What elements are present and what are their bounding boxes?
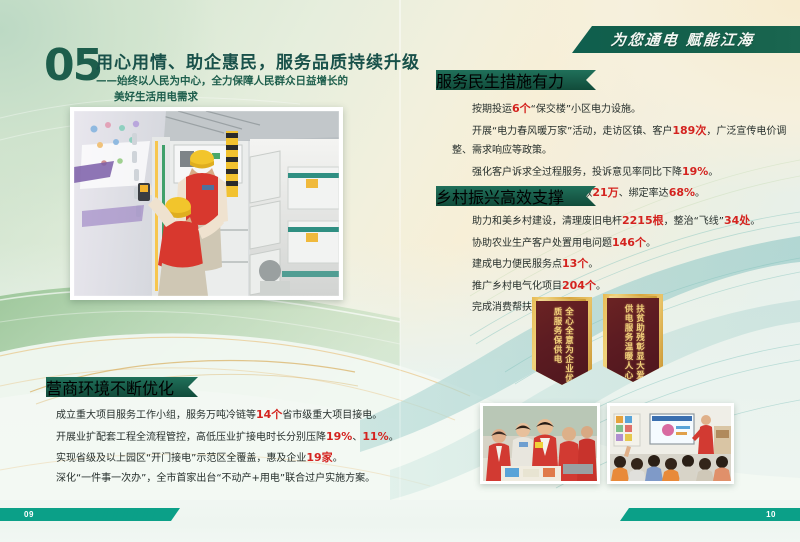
small-photo-right [610, 406, 731, 481]
main-photo [74, 111, 339, 296]
small-photo-left [483, 406, 597, 481]
text-run: 完成消费帮扶 [472, 302, 532, 313]
paragraph: 开展业扩配套工程全流程管控，高低压业扩接电时长分别压降19%、11%。 [56, 426, 406, 448]
section-header-xiangcun-label: 乡村振兴高效支撑 [436, 184, 564, 208]
highlight-value: 13个 [562, 257, 588, 270]
text-run: 助力和美乡村建设，清理废旧电杆 [472, 216, 622, 227]
text-run: 强化客户诉求全过程服务，投诉意见率同比下降 [472, 167, 682, 178]
small-photo-frame-right [607, 403, 734, 484]
highlight-value: 2215根 [622, 214, 664, 227]
header-banner: 为您通电 赋能江海 [572, 26, 800, 53]
page-footer: 09 10 [0, 500, 800, 542]
paragraph: 按期投运6个“保交楼”小区电力设施。 [452, 98, 792, 120]
text-run: 。 [695, 188, 705, 199]
text-run: 。 [333, 453, 343, 464]
header-banner-text: 为您通电 赋能江海 [610, 29, 761, 50]
highlight-value: 21万 [592, 186, 618, 199]
text-run: 协助农业生产客户处置用电问题 [472, 238, 612, 249]
paragraph: 协助农业生产客户处置用电问题146个。 [452, 232, 792, 254]
highlight-value: 6个 [512, 102, 531, 115]
page-subtitle-line1: ——始终以人民为中心，全力保障人民群众日益增长的 [96, 75, 348, 87]
text-run: 。 [389, 432, 399, 443]
highlight-value: 14个 [256, 408, 282, 421]
text-run: 。 [750, 216, 760, 227]
section-header-xiangcun: 乡村振兴高效支撑 [436, 186, 596, 211]
text-run: 建成电力便民服务点 [472, 259, 562, 270]
pennant-face-2: 扶贫助残彰显大爱供电服务温暖人心 [607, 298, 659, 382]
page-number-right: 10 [766, 510, 776, 519]
text-run: 按期投运 [472, 104, 512, 115]
section-header-minsheng: 服务民生措施有力 [436, 70, 596, 95]
text-run: 。 [588, 259, 598, 270]
small-photo-left-illustration [483, 406, 597, 481]
paragraph: 推广乡村电气化项目204个。 [452, 275, 792, 297]
section-header-yingshang: 营商环境不断优化 [46, 377, 198, 402]
award-pennant-2: 扶贫助残彰显大爱供电服务温暖人心 [603, 294, 663, 382]
text-run: 。 [708, 167, 718, 178]
highlight-value: 204个 [562, 279, 596, 292]
page-subtitle: ——始终以人民为中心，全力保障人民群众日益增长的 美好生活用电需求 [96, 73, 356, 106]
paragraph: 开展“电力春风暖万家”活动，走访区镇、客户189次，广泛宣传电价调整、需求响应等… [452, 120, 792, 161]
award-pennant-1: 全心全意为企业优质服务保供电 [532, 297, 592, 385]
section-header-minsheng-label: 服务民生措施有力 [436, 68, 564, 92]
pennant-text-1: 全心全意为企业优质服务保供电 [551, 301, 574, 385]
page-title: 用心用情、助企惠民，服务品质持续升级 [96, 48, 420, 73]
paragraph: 助力和美乡村建设，清理废旧电杆2215根，整治“飞线”34处。 [452, 210, 792, 232]
section-number: 05 [44, 44, 101, 88]
highlight-value: 34处 [724, 214, 750, 227]
paragraph: 深化“一件事一次办”，全市首家出台“不动产+用电”联合过户实施方案。 [56, 469, 406, 489]
highlight-value: 19% [682, 165, 708, 178]
text-run: 开展业扩配套工程全流程管控，高低压业扩接电时长分别压降 [56, 432, 326, 443]
paragraph: 强化客户诉求全过程服务，投诉意见率同比下降19%。 [452, 161, 792, 183]
body-text-yingshang: 成立重大项目服务工作小组，服务万吨冷链等14个省市级重大项目接电。 开展业扩配套… [56, 404, 406, 488]
small-photo-frame-left [480, 403, 600, 484]
paragraph: 实现省级及以上园区“开门接电”示范区全覆盖，惠及企业19家。 [56, 447, 406, 469]
page-number-left: 09 [24, 510, 34, 519]
section-header-yingshang-label: 营商环境不断优化 [46, 375, 174, 399]
text-run: 推广乡村电气化项目 [472, 281, 562, 292]
text-run: 。 [646, 238, 656, 249]
highlight-value: 19家 [306, 451, 332, 464]
highlight-value: 11% [362, 430, 388, 443]
highlight-value: 189次 [672, 124, 706, 137]
small-photo-right-illustration [610, 406, 731, 481]
main-photo-frame [70, 107, 343, 300]
text-run: 开展“电力春风暖万家”活动，走访区镇、客户 [472, 126, 672, 137]
page-subtitle-line2: 美好生活用电需求 [96, 89, 356, 105]
text-run: “保交楼”小区电力设施。 [531, 104, 641, 115]
highlight-value: 146个 [612, 236, 646, 249]
text-run: 、 [352, 432, 362, 443]
pennant-text-2: 扶贫助残彰显大爱供电服务温暖人心 [622, 298, 645, 382]
text-run: 成立重大项目服务工作小组，服务万吨冷链等 [56, 410, 256, 421]
highlight-value: 68% [669, 186, 695, 199]
text-run: 实现省级及以上园区“开门接电”示范区全覆盖，惠及企业 [56, 453, 306, 464]
main-photo-illustration [74, 111, 339, 296]
text-run: 、绑定率达 [619, 188, 669, 199]
brochure-page: 为您通电 赋能江海 05 用心用情、助企惠民，服务品质持续升级 ——始终以人民为… [0, 0, 800, 542]
text-run: 。 [596, 281, 606, 292]
text-run: ，整治“飞线” [664, 216, 724, 227]
paragraph: 成立重大项目服务工作小组，服务万吨冷链等14个省市级重大项目接电。 [56, 404, 406, 426]
text-run: 深化“一件事一次办”，全市首家出台“不动产+用电”联合过户实施方案。 [56, 473, 375, 484]
footer-hatch-left [95, 508, 157, 521]
pennant-face-1: 全心全意为企业优质服务保供电 [536, 301, 588, 385]
highlight-value: 19% [326, 430, 352, 443]
paragraph: 建成电力便民服务点13个。 [452, 253, 792, 275]
page-number-right-bar: 10 [620, 508, 800, 521]
text-run: 省市级重大项目接电。 [282, 410, 382, 421]
